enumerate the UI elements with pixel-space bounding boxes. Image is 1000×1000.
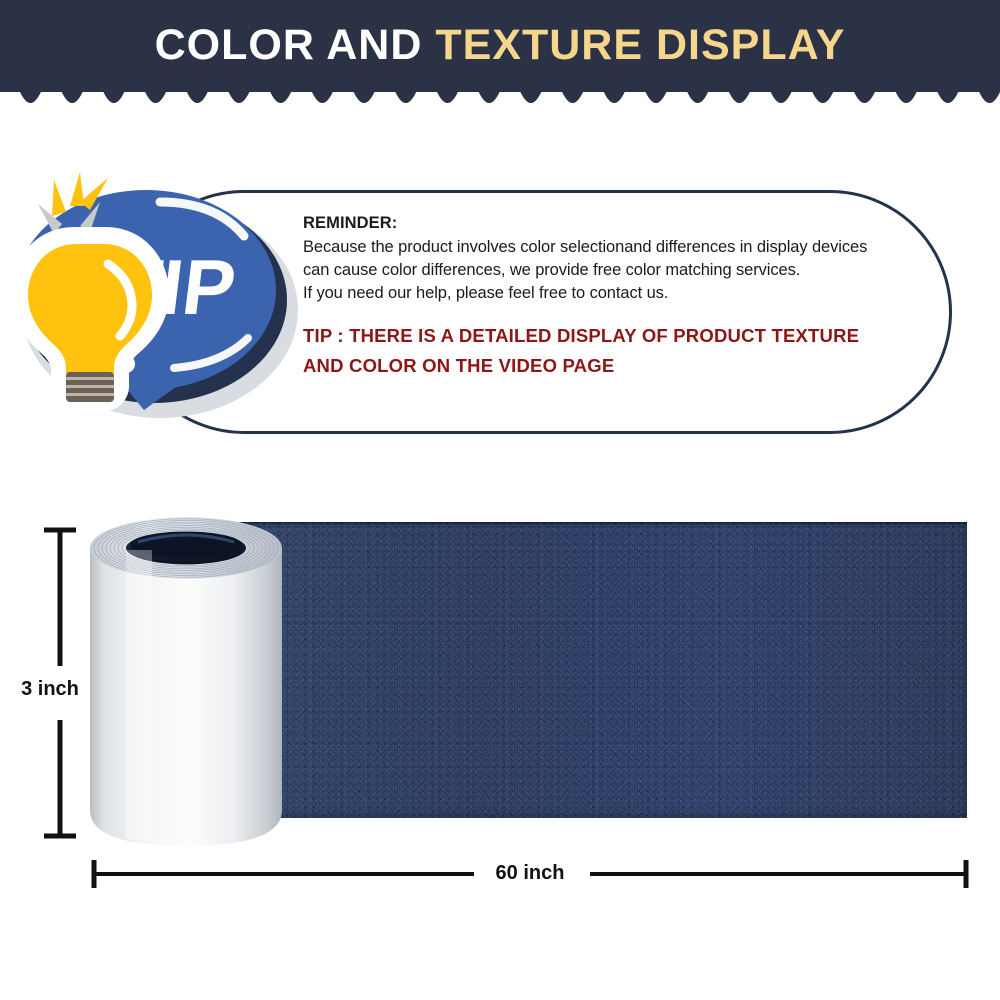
reminder-line-1: Because the product involves color selec… <box>303 236 953 259</box>
dimension-height-label: 3 inch <box>0 678 100 701</box>
sheet-top-edge <box>218 522 967 524</box>
tip-text-block: REMINDER: Because the product involves c… <box>303 212 953 381</box>
reminder-line-2: can cause color differences, we provide … <box>303 259 953 282</box>
page-title-primary: COLOR AND <box>155 21 423 69</box>
reminder-heading: REMINDER: <box>303 212 953 234</box>
header-banner: COLOR AND TEXTURE DISPLAY <box>0 0 1000 120</box>
tip-badge-graphic: TIP <box>8 168 308 430</box>
roll-body <box>90 548 282 846</box>
page-title-accent: TEXTURE DISPLAY <box>435 21 845 69</box>
page-title: COLOR AND TEXTURE DISPLAY <box>0 19 1000 71</box>
tip-badge: TIP <box>8 168 308 430</box>
roll-graphic <box>86 510 286 858</box>
product-image <box>0 490 1000 890</box>
tip-highlight-block: TIP : THERE IS A DETAILED DISPLAY OF PRO… <box>303 321 953 381</box>
sheet-texture-grain <box>218 522 967 818</box>
product-roll <box>86 510 286 858</box>
tip-highlight-line-2: AND COLOR ON THE VIDEO PAGE <box>303 351 953 381</box>
dimension-width-label: 60 inch <box>90 862 970 885</box>
reminder-line-3: If you need our help, please feel free t… <box>303 282 953 305</box>
tip-highlight-line-1: TIP : THERE IS A DETAILED DISPLAY OF PRO… <box>303 321 953 351</box>
infographic-page: COLOR AND TEXTURE DISPLAY TIP <box>0 0 1000 1000</box>
roll-sheen <box>126 550 152 840</box>
bulb-base <box>66 372 114 402</box>
vinyl-sheet <box>218 522 967 818</box>
